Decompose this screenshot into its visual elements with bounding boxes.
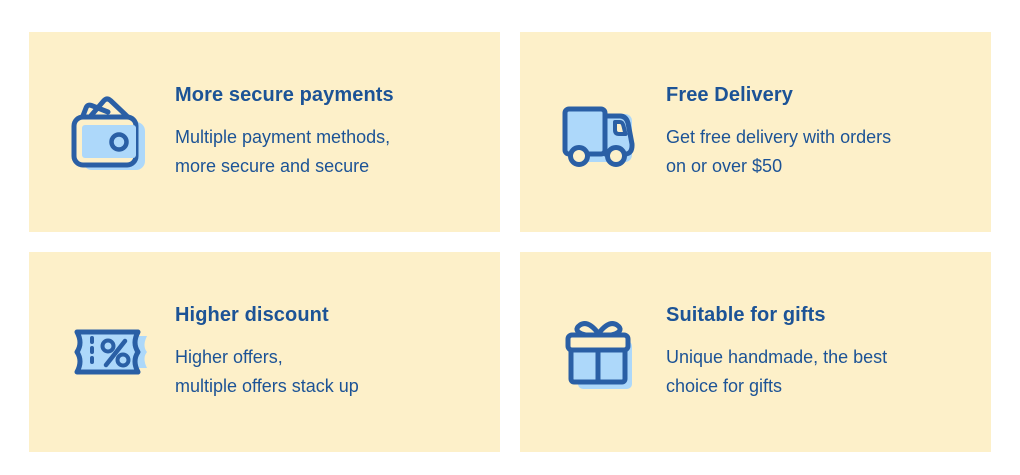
card-title: Free Delivery: [666, 83, 891, 107]
card-text-delivery: Free Delivery Get free delivery with ord…: [654, 83, 891, 181]
wallet-icon: [55, 78, 163, 186]
benefit-card-delivery[interactable]: Free Delivery Get free delivery with ord…: [520, 32, 991, 232]
discount-ticket-icon: [55, 298, 163, 406]
card-text-gifts: Suitable for gifts Unique handmade, the …: [654, 303, 887, 401]
card-description: Higher offers, multiple offers stack up: [175, 343, 359, 401]
benefit-card-discount[interactable]: Higher discount Higher offers, multiple …: [29, 252, 500, 452]
card-text-payments: More secure payments Multiple payment me…: [163, 83, 394, 181]
card-title: More secure payments: [175, 83, 394, 107]
benefit-card-gifts[interactable]: Suitable for gifts Unique handmade, the …: [520, 252, 991, 452]
card-title: Suitable for gifts: [666, 303, 887, 327]
delivery-truck-icon: [546, 78, 654, 186]
benefit-card-payments[interactable]: More secure payments Multiple payment me…: [29, 32, 500, 232]
card-text-discount: Higher discount Higher offers, multiple …: [163, 303, 359, 401]
benefits-grid: More secure payments Multiple payment me…: [29, 32, 991, 452]
card-description: Unique handmade, the best choice for gif…: [666, 343, 887, 401]
card-description: Multiple payment methods, more secure an…: [175, 123, 394, 181]
gift-box-icon: [546, 298, 654, 406]
card-title: Higher discount: [175, 303, 359, 327]
card-description: Get free delivery with orders on or over…: [666, 123, 891, 181]
